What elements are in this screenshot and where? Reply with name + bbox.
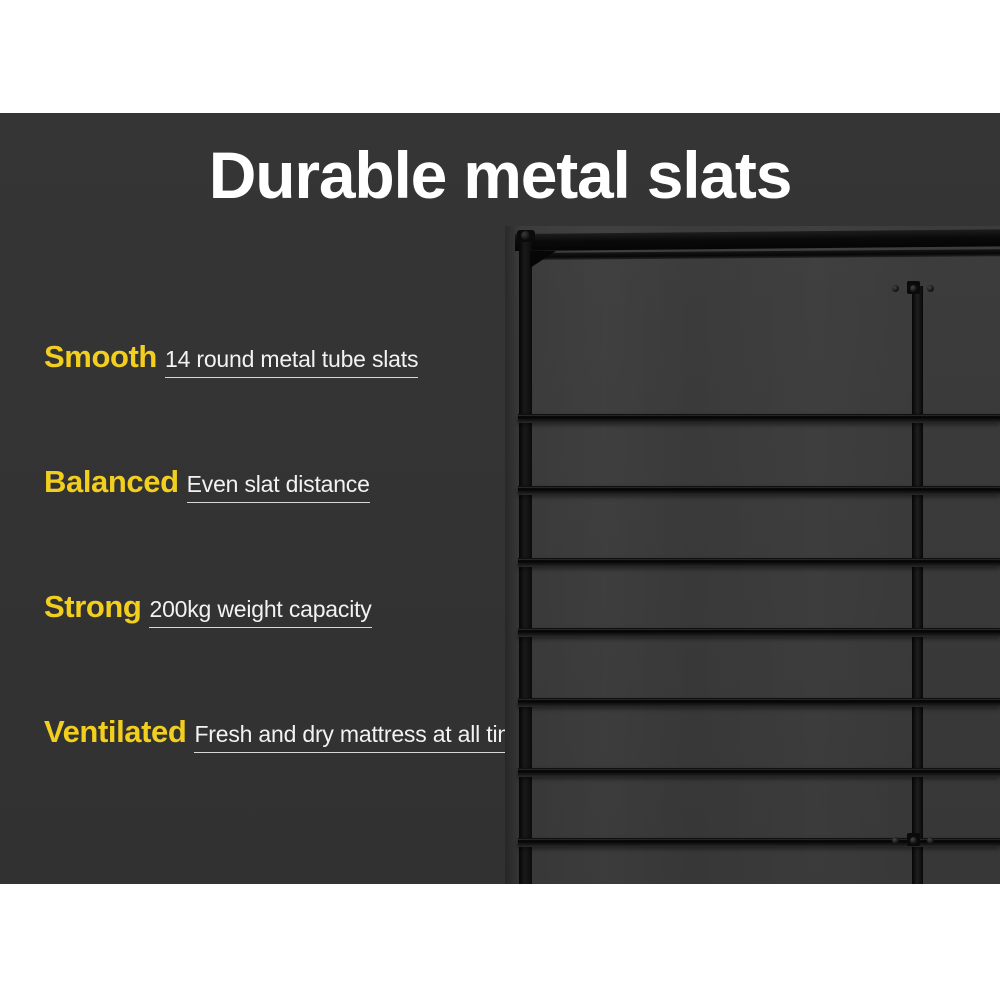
feature-item-ventilated: Ventilated Fresh and dry mattress at all…: [44, 716, 564, 841]
feature-term: Balanced: [44, 466, 179, 497]
feature-description: Even slat distance: [187, 471, 370, 497]
rail-joint-bracket: [890, 833, 936, 846]
feature-description: Fresh and dry mattress at all times: [194, 721, 540, 747]
metal-slat: [518, 698, 1000, 707]
bolt-icon: [521, 231, 530, 240]
feature-term: Smooth: [44, 341, 157, 372]
dark-content-panel: Durable metal slats Smooth 14 round meta…: [0, 113, 1000, 884]
feature-item-balanced: Balanced Even slat distance: [44, 466, 564, 591]
feature-term: Strong: [44, 591, 141, 622]
feature-description: 14 round metal tube slats: [165, 346, 418, 372]
surface-sheen: [518, 226, 1000, 884]
page-title: Durable metal slats: [0, 142, 1000, 208]
feature-description: 200kg weight capacity: [149, 596, 371, 622]
centre-support-rail: [912, 286, 923, 884]
feature-description-underline: 200kg weight capacity: [149, 598, 371, 628]
feature-description-underline: 14 round metal tube slats: [165, 348, 418, 378]
metal-slat: [518, 414, 1000, 423]
feature-item-strong: Strong 200kg weight capacity: [44, 591, 564, 716]
feature-list: Smooth 14 round metal tube slats Balance…: [44, 341, 564, 841]
feature-description-underline: Even slat distance: [187, 473, 370, 503]
infographic-canvas: Durable metal slats Smooth 14 round meta…: [0, 0, 1000, 1000]
metal-slat: [518, 558, 1000, 567]
feature-description-underline: Fresh and dry mattress at all times: [194, 723, 540, 753]
rail-joint-bracket: [890, 281, 936, 294]
feature-term: Ventilated: [44, 716, 186, 747]
feature-item-smooth: Smooth 14 round metal tube slats: [44, 341, 564, 466]
metal-slat: [518, 628, 1000, 637]
product-photo-bed-frame: [505, 226, 1000, 884]
corner-gusset-bracket: [530, 251, 556, 268]
metal-slat: [518, 768, 1000, 777]
metal-slat: [518, 486, 1000, 495]
